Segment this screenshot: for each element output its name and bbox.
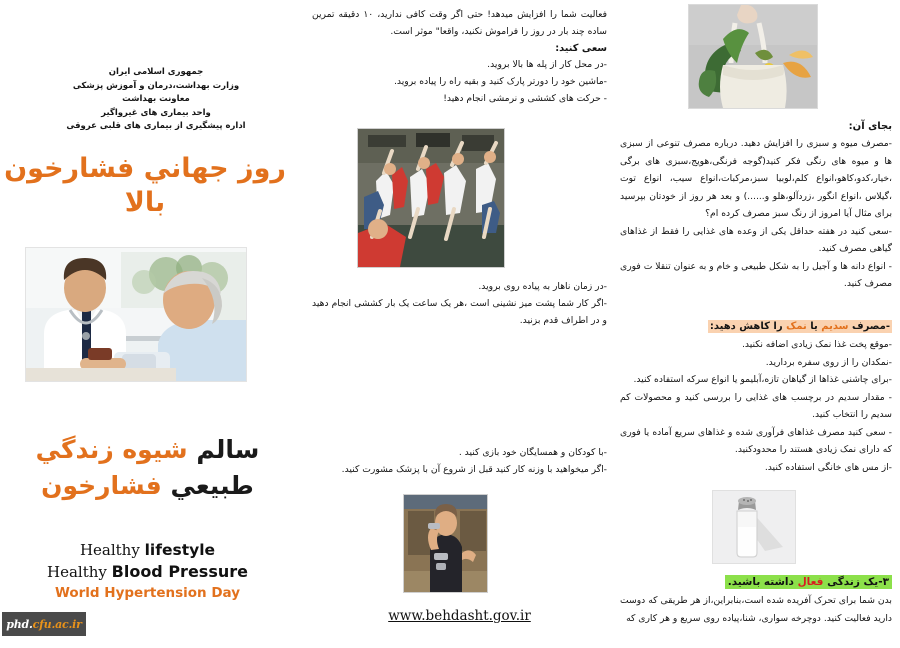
slogan-en-blood-pressure: Blood Pressure: [112, 562, 248, 581]
ministry-line-5: اداره پیشگیری از بیماری های قلبی عروقی: [22, 120, 290, 134]
middle-list-two: -در زمان ناهار به پیاده روی بروید. -اگر …: [312, 278, 607, 329]
slogan-en-line-1: Healthy lifestyle: [0, 540, 295, 561]
slogan-en-line-2: Healthy Blood Pressure: [0, 561, 295, 583]
slogan-en-line-3: World Hypertension Day: [0, 583, 295, 603]
ministry-line-3: معاونت بهداشت: [22, 93, 290, 107]
poster-root: جمهوری اسلامی ایران وزارت بهداشت،درمان و…: [0, 0, 900, 648]
slogan-persian: سالم شیوه زندگي طبیعي فشارخون: [0, 432, 295, 504]
slogan-en-healthy-2: Healthy: [47, 563, 112, 581]
ministry-line-4: واحد بیماری های غیرواگیر: [22, 107, 290, 121]
watermark-part-2: cfu.ac.ir: [33, 618, 82, 631]
right-heading-instead: بجای آن:: [620, 118, 892, 136]
list-item: - سعی کنید مصرف غذاهای فرآوری شده و غذاه…: [620, 424, 892, 459]
middle-list-one: -در محل کار از پله ها بالا بروید. -ماشین…: [312, 56, 607, 107]
active-life-body: بدن شما برای تحرک آفریده شده است،بنابرای…: [620, 592, 892, 627]
active-life-heading: ۳-یک زندگی فعال داشته باشید.: [620, 570, 892, 589]
list-item: -اگر میخواهید با وزنه کار کنید قبل از شر…: [312, 461, 607, 478]
salt-heading-highlight: -مصرف سدیم یا نمک را کاهش دهید:: [708, 320, 892, 333]
list-item: -در محل کار از پله ها بالا بروید.: [312, 56, 607, 73]
list-item: -موقع پخت غذا نمک زیادی اضافه نکنید.: [620, 336, 892, 354]
active-heading-highlight: ۳-یک زندگی فعال داشته باشید.: [725, 575, 892, 589]
list-item: -نمکدان را از روی سفره بردارید.: [620, 354, 892, 372]
list-item: -از مس های خانگی استفاده کنید.: [620, 459, 892, 477]
salt-heading-accent-sodium: سدیم: [821, 321, 848, 332]
ministry-header-block: جمهوری اسلامی ایران وزارت بهداشت،درمان و…: [22, 66, 290, 134]
paragraph: -مصرف میوه و سبزی را افزایش دهید. درباره…: [620, 135, 892, 223]
doctor-blood-pressure-photo: [25, 247, 247, 382]
list-item: -برای چاشنی غذاها از گیاهان تازه،آبلیمو …: [620, 371, 892, 389]
middle-heading-try: سعی کنید:: [312, 40, 607, 57]
slogan-en-lifestyle: lifestyle: [145, 541, 215, 559]
watermark-badge: phd.cfu.ac.ir: [2, 612, 86, 636]
list-item: -در زمان ناهار به پیاده روی بروید.: [312, 278, 607, 295]
list-item: -ماشین خود را دورتر پارک کنید و بقیه راه…: [312, 73, 607, 90]
dumbbell-man-photo: [403, 494, 488, 593]
list-item: - حرکت های کششی و نرمشی انجام دهید!: [312, 90, 607, 107]
slogan-word-lifestyle: شیوه زندگي: [36, 435, 188, 464]
slogan-persian-line-2: طبیعي فشارخون: [0, 468, 295, 504]
ministry-line-1: جمهوری اسلامی ایران: [22, 66, 290, 80]
slogan-word-salem: سالم: [196, 435, 259, 464]
salt-heading-middle: یا: [807, 321, 821, 332]
middle-paragraph-intro: فعالیت شما را افزایش میدهد! حتی اگر وقت …: [312, 6, 607, 40]
active-heading-suffix: داشته باشید.: [728, 576, 798, 588]
watermark-part-1: phd.: [6, 618, 32, 631]
salt-section-heading: -مصرف سدیم یا نمک را کاهش دهید:: [620, 314, 892, 333]
salt-heading-accent-salt: نمک: [786, 321, 807, 332]
salt-shaker-photo: [712, 490, 796, 564]
list-item: -با کودکان و همسایگان خود بازی کنید .: [312, 444, 607, 461]
active-heading-accent: فعال: [798, 576, 824, 588]
slogan-word-tabiee: طبیعي: [170, 471, 253, 500]
list-item: - مقدار سدیم در برچسب های غذایی را بررسی…: [620, 389, 892, 424]
page-title: روز جهاني فشارخون بالا: [0, 152, 290, 220]
grocery-bag-photo: [688, 4, 818, 109]
salt-recommendation-list: -موقع پخت غذا نمک زیادی اضافه نکنید. -نم…: [620, 336, 892, 476]
group-stretching-photo: [357, 128, 505, 268]
salt-heading-prefix: -مصرف: [848, 321, 890, 332]
paragraph: - انواع دانه ها و آجیل را به شکل طبیعی و…: [620, 258, 892, 293]
slogan-persian-line-1: سالم شیوه زندگي: [0, 432, 295, 468]
salt-heading-suffix: را کاهش دهید:: [710, 321, 786, 332]
middle-list-three: -با کودکان و همسایگان خود بازی کنید . -ا…: [312, 444, 607, 478]
slogan-word-bloodpressure: فشارخون: [41, 471, 162, 500]
slogan-en-healthy-1: Healthy: [80, 541, 145, 559]
ministry-line-2: وزارت بهداشت،درمان و آموزش پزشکی: [22, 80, 290, 94]
slogan-english: Healthy lifestyle Healthy Blood Pressure…: [0, 540, 295, 603]
website-link[interactable]: www.behdasht.gov.ir: [312, 608, 607, 624]
active-heading-prefix: ۳-یک زندگی: [823, 576, 889, 588]
right-body-instead: -مصرف میوه و سبزی را افزایش دهید. درباره…: [620, 135, 892, 293]
paragraph: -سعی کنید در هفته حداقل یکی از وعده های …: [620, 223, 892, 258]
list-item: -اگر کار شما پشت میز نشینی است ،هر یک سا…: [312, 295, 607, 329]
